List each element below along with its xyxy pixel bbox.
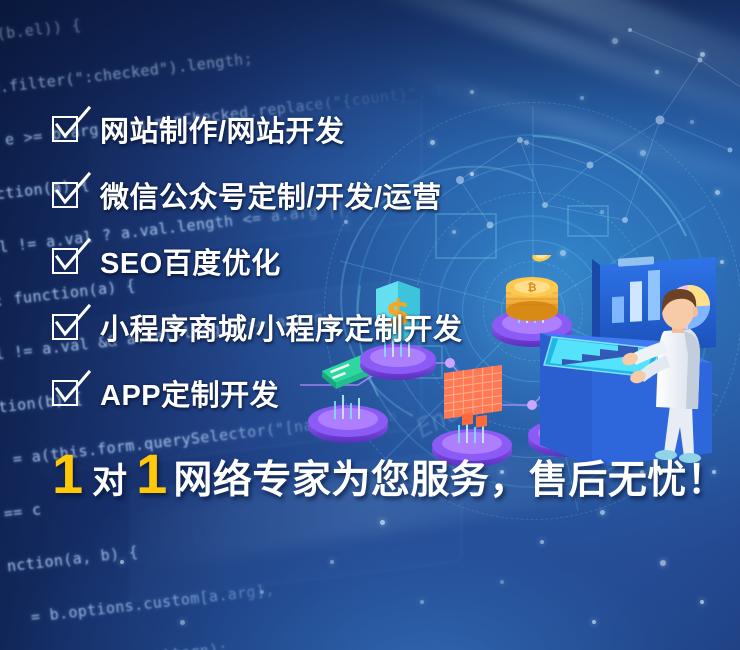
promo-banner: End d.index(b.el)) {e = d.filter(":check… (0, 0, 740, 650)
check-mark-icon (53, 305, 91, 339)
service-item-2[interactable]: SEO百度优化 (52, 228, 712, 294)
service-item-3[interactable]: 小程序商城/小程序定制开发 (52, 294, 712, 360)
service-label-3: 小程序商城/小程序定制开发 (100, 306, 463, 348)
check-mark-icon (53, 107, 91, 141)
tagline-text: 网络专家为您服务，售后无忧！ (173, 461, 726, 500)
check-mark-icon (53, 239, 91, 273)
tagline-number-first: 1 (52, 446, 83, 502)
service-item-4[interactable]: APP定制开发 (52, 360, 712, 426)
tagline-number-second: 1 (136, 446, 167, 502)
check-mark-icon (53, 173, 91, 207)
service-item-1[interactable]: 微信公众号定制/开发/运营 (52, 162, 712, 228)
service-label-0: 网站制作/网站开发 (100, 108, 345, 150)
checkbox-checked-icon[interactable] (52, 116, 78, 142)
checkbox-checked-icon[interactable] (52, 248, 78, 274)
service-list: 网站制作/网站开发 微信公众号定制/开发/运营 SEO百度优化 (52, 96, 712, 426)
tagline-separator: 对 (92, 464, 127, 499)
service-label-2: SEO百度优化 (100, 240, 281, 282)
service-label-1: 微信公众号定制/开发/运营 (100, 174, 442, 216)
tagline: 1 对 1 网络专家为您服务，售后无忧！ (52, 446, 726, 502)
service-label-4: APP定制开发 (100, 372, 279, 414)
checkbox-checked-icon[interactable] (52, 314, 78, 340)
service-item-0[interactable]: 网站制作/网站开发 (52, 96, 712, 162)
checkbox-checked-icon[interactable] (52, 182, 78, 208)
check-mark-icon (53, 371, 91, 405)
checkbox-checked-icon[interactable] (52, 380, 78, 406)
